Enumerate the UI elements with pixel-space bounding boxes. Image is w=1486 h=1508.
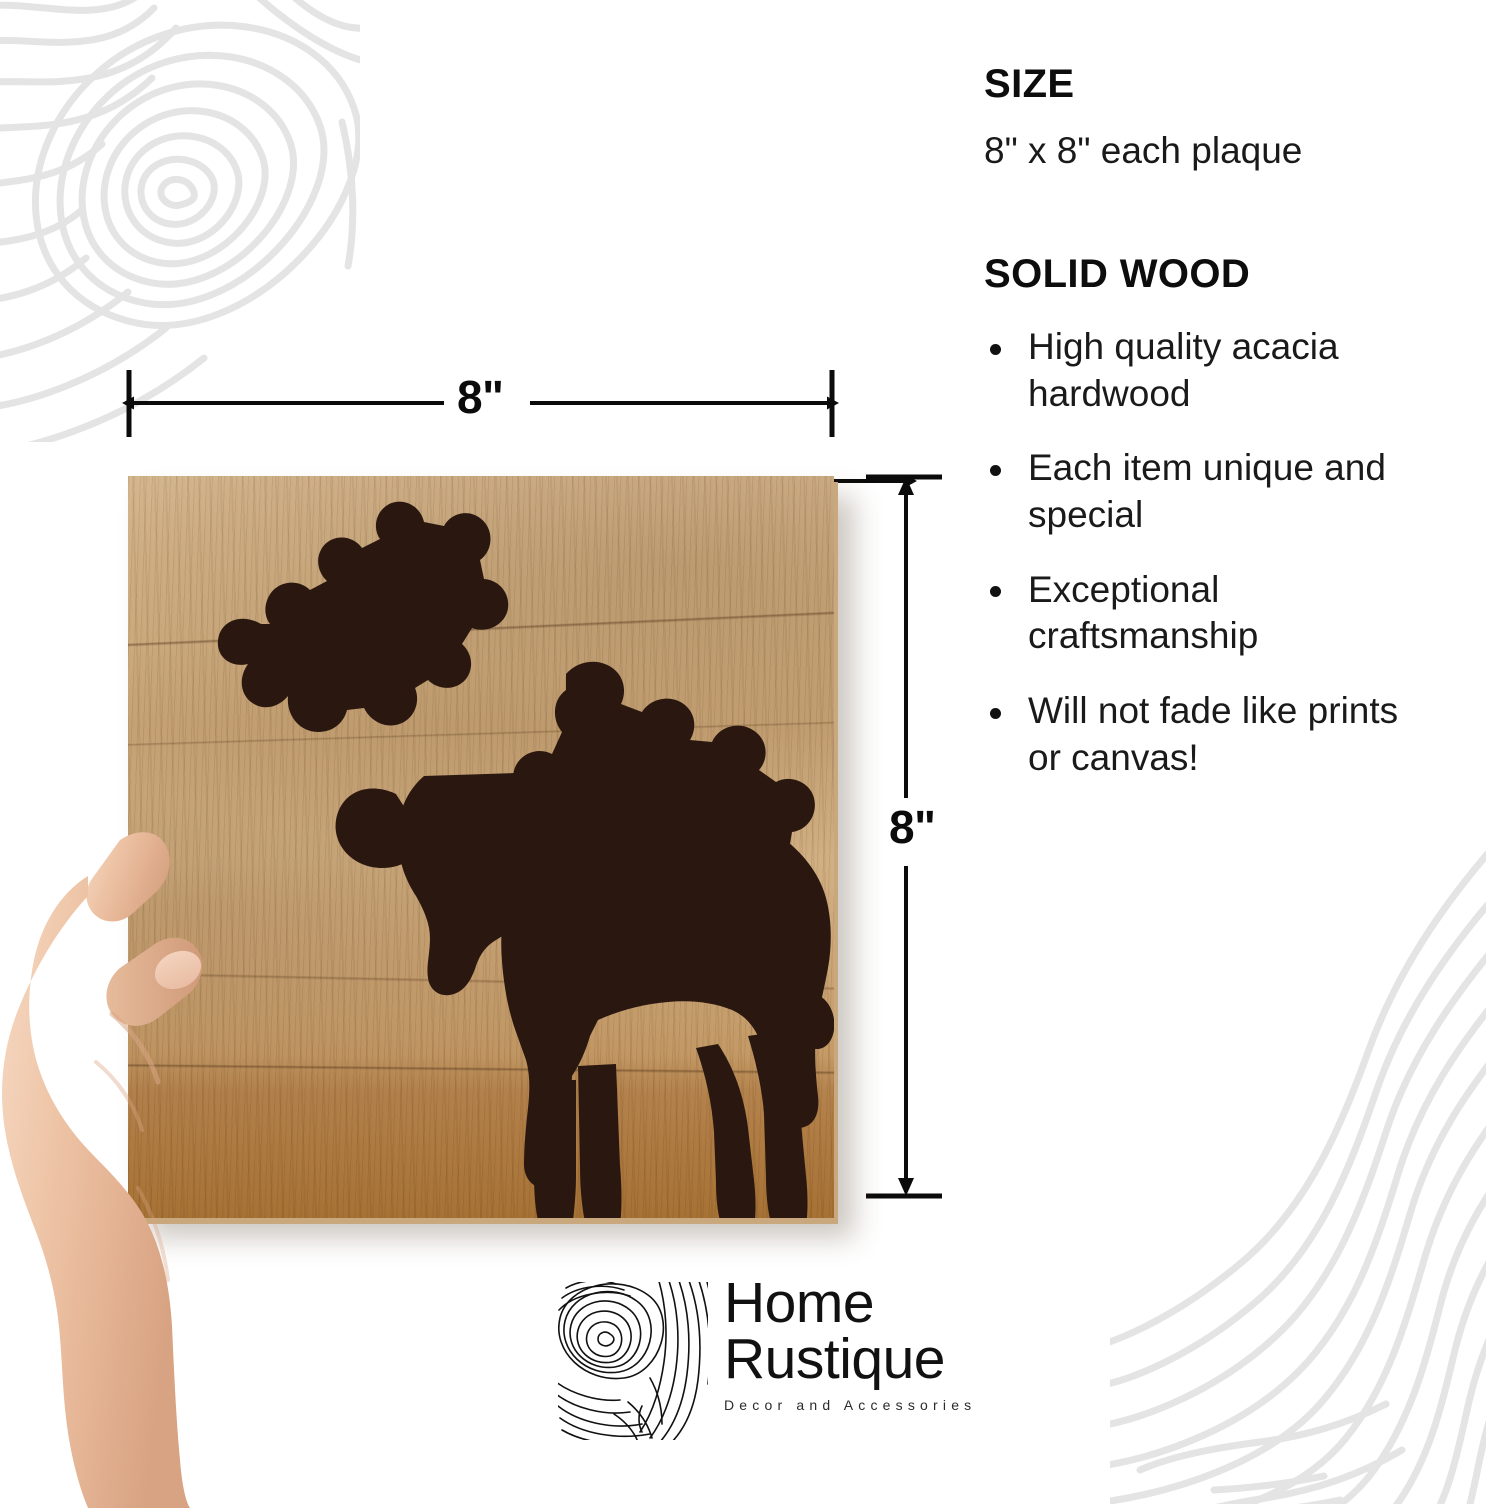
feature-list: High quality acacia hardwood Each item u… (984, 324, 1434, 781)
size-heading: SIZE (984, 62, 1434, 106)
list-item: Will not fade like prints or canvas! (984, 688, 1434, 781)
list-item-label: Will not fade like prints or canvas! (1028, 690, 1398, 778)
brand-logo: Home Rustique Decor and Accessories (558, 1282, 958, 1457)
hand-holding-plaque (0, 818, 322, 1508)
list-item: Exceptional craftsmanship (984, 567, 1434, 660)
list-item: High quality acacia hardwood (984, 324, 1434, 417)
product-info-column: SIZE 8" x 8" each plaque SOLID WOOD High… (984, 62, 1434, 809)
brand-tagline: Decor and Accessories (724, 1397, 964, 1413)
brand-name-line1: Home (724, 1276, 964, 1332)
size-value: 8" x 8" each plaque (984, 128, 1434, 174)
list-item-label: Exceptional craftsmanship (1028, 569, 1258, 657)
bullet-icon (990, 708, 1001, 719)
width-dimension-label: 8" (448, 374, 512, 420)
material-heading: SOLID WOOD (984, 252, 1434, 296)
brand-logo-text: Home Rustique Decor and Accessories (724, 1276, 964, 1413)
brand-name-line2: Rustique (724, 1332, 964, 1388)
list-item-label: High quality acacia hardwood (1028, 326, 1339, 414)
bullet-icon (990, 465, 1001, 476)
bullet-icon (990, 586, 1001, 597)
bullet-icon (990, 344, 1001, 355)
wood-grain-logo-mark-icon (558, 1282, 708, 1440)
list-item-label: Each item unique and special (1028, 447, 1386, 535)
height-dimension-label: 8" (880, 804, 944, 850)
wood-grain-decoration-bottom-right (1110, 784, 1486, 1504)
wood-grain-decoration-top-left (0, 0, 360, 442)
list-item: Each item unique and special (984, 445, 1434, 538)
